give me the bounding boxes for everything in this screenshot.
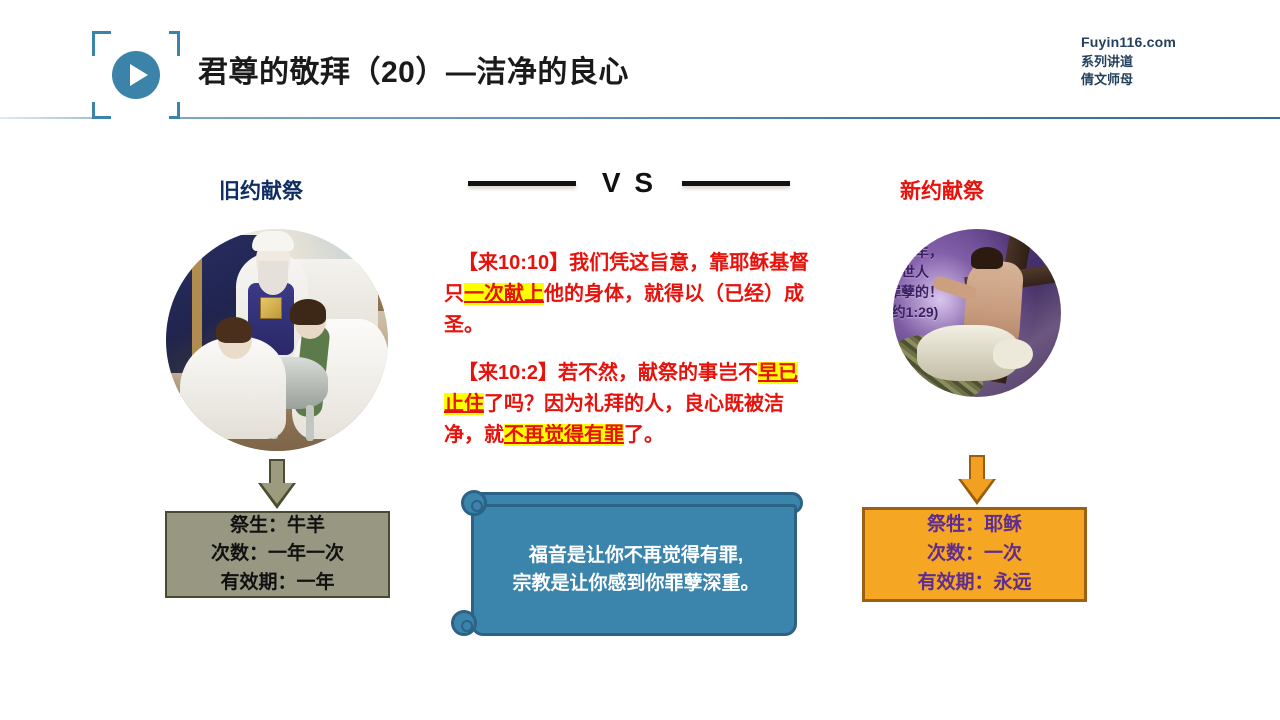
vs-line-left <box>468 181 576 186</box>
new-covenant-image: 的羔羊， 负世人 罪孽的！ (约1:29) <box>893 229 1061 397</box>
priest-beard-shape <box>258 261 288 295</box>
new-box-line-2: 次数：一次 <box>927 540 1022 569</box>
priest-breastplate-shape <box>260 297 282 319</box>
old-box-line-1: 祭生：牛羊 <box>230 512 325 541</box>
scroll-line-2: 宗教是让你感到你罪孽深重。 <box>481 570 791 598</box>
scroll-line-1: 福音是让你不再觉得有罪, <box>481 542 791 570</box>
heading-old-covenant: 旧约献祭 <box>219 175 303 205</box>
heading-new-covenant: 新约献祭 <box>900 175 984 205</box>
scroll-banner: 福音是让你不再觉得有罪, 宗教是让你感到你罪孽深重。 <box>447 488 807 643</box>
arrow-shaft <box>269 459 285 485</box>
old-box-line-3: 有效期：一年 <box>220 569 334 598</box>
priest-turban-shape <box>252 231 294 251</box>
scroll-curl-bottom-icon <box>451 610 477 636</box>
header-divider-line <box>0 117 1280 119</box>
overlay-line-3: 罪孽的！ <box>893 283 1023 303</box>
sacrificial-lamb-head-shape <box>993 339 1033 369</box>
brand-speaker: 倩文师母 <box>1081 71 1176 89</box>
scripture-block: 【来10:10】我们凭这旨意，靠耶稣基督只一次献上他的身体，就得以（已经）成圣。… <box>444 248 812 451</box>
brand-block: Fuyin116.com 系列讲道 倩文师母 <box>1081 33 1176 90</box>
brand-series: 系列讲道 <box>1081 53 1176 71</box>
verse-reference: 【来10:2】 <box>458 362 558 384</box>
vs-label: V S <box>602 167 656 199</box>
verse-item: 【来10:10】我们凭这旨意，靠耶稣基督只一次献上他的身体，就得以（已经）成圣。 <box>444 248 812 342</box>
scroll-banner-text: 福音是让你不再觉得有罪, 宗教是让你感到你罪孽深重。 <box>481 542 791 597</box>
image-overlay-caption: 的羔羊， 负世人 罪孽的！ (约1:29) <box>893 243 1023 323</box>
arrow-shaft <box>969 455 985 481</box>
verse-text: 了。 <box>624 424 664 446</box>
verse-highlight: 不再觉得有罪 <box>504 424 624 446</box>
down-arrow-icon-left <box>258 459 296 509</box>
arrow-head-fill <box>961 479 993 500</box>
vs-divider: V S <box>440 160 818 206</box>
play-button-icon[interactable] <box>112 51 160 99</box>
worshipper-left-hair-shape <box>216 317 252 343</box>
new-box-line-3: 有效期：永远 <box>917 569 1031 598</box>
new-box-line-1: 祭牲：耶稣 <box>927 511 1022 540</box>
brand-site: Fuyin116.com <box>1081 33 1176 53</box>
old-box-line-2: 次数：一年一次 <box>211 540 344 569</box>
arrow-head-fill <box>261 483 293 504</box>
verse-item: 【来10:2】若不然，献祭的事岂不早已止住了吗？因为礼拜的人，良心既被洁净，就不… <box>444 358 812 452</box>
new-covenant-summary-box: 祭牲：耶稣 次数：一次 有效期：永远 <box>862 507 1087 602</box>
verse-reference: 【来10:10】 <box>458 252 569 274</box>
scroll-curl-top-icon <box>461 490 487 516</box>
overlay-line-2: 负世人 <box>893 263 1023 283</box>
overlay-line-4: (约1:29) <box>893 303 1023 323</box>
verse-text: 若不然，献祭的事岂不 <box>558 362 758 384</box>
lamb-leg-shape <box>306 405 314 441</box>
vs-line-right <box>682 181 790 186</box>
verse-highlight: 一次献上 <box>464 283 544 305</box>
page-title: 君尊的敬拜（20）—洁净的良心 <box>198 47 629 91</box>
play-triangle-icon <box>130 64 148 86</box>
old-covenant-summary-box: 祭生：牛羊 次数：一年一次 有效期：一年 <box>165 511 390 598</box>
slide-canvas: 君尊的敬拜（20）—洁净的良心 Fuyin116.com 系列讲道 倩文师母 旧… <box>0 0 1280 720</box>
worshipper-right-hair-shape <box>290 299 326 325</box>
overlay-line-1: 的羔羊， <box>893 243 1023 263</box>
old-covenant-image <box>166 229 388 451</box>
down-arrow-icon-right <box>958 455 996 505</box>
